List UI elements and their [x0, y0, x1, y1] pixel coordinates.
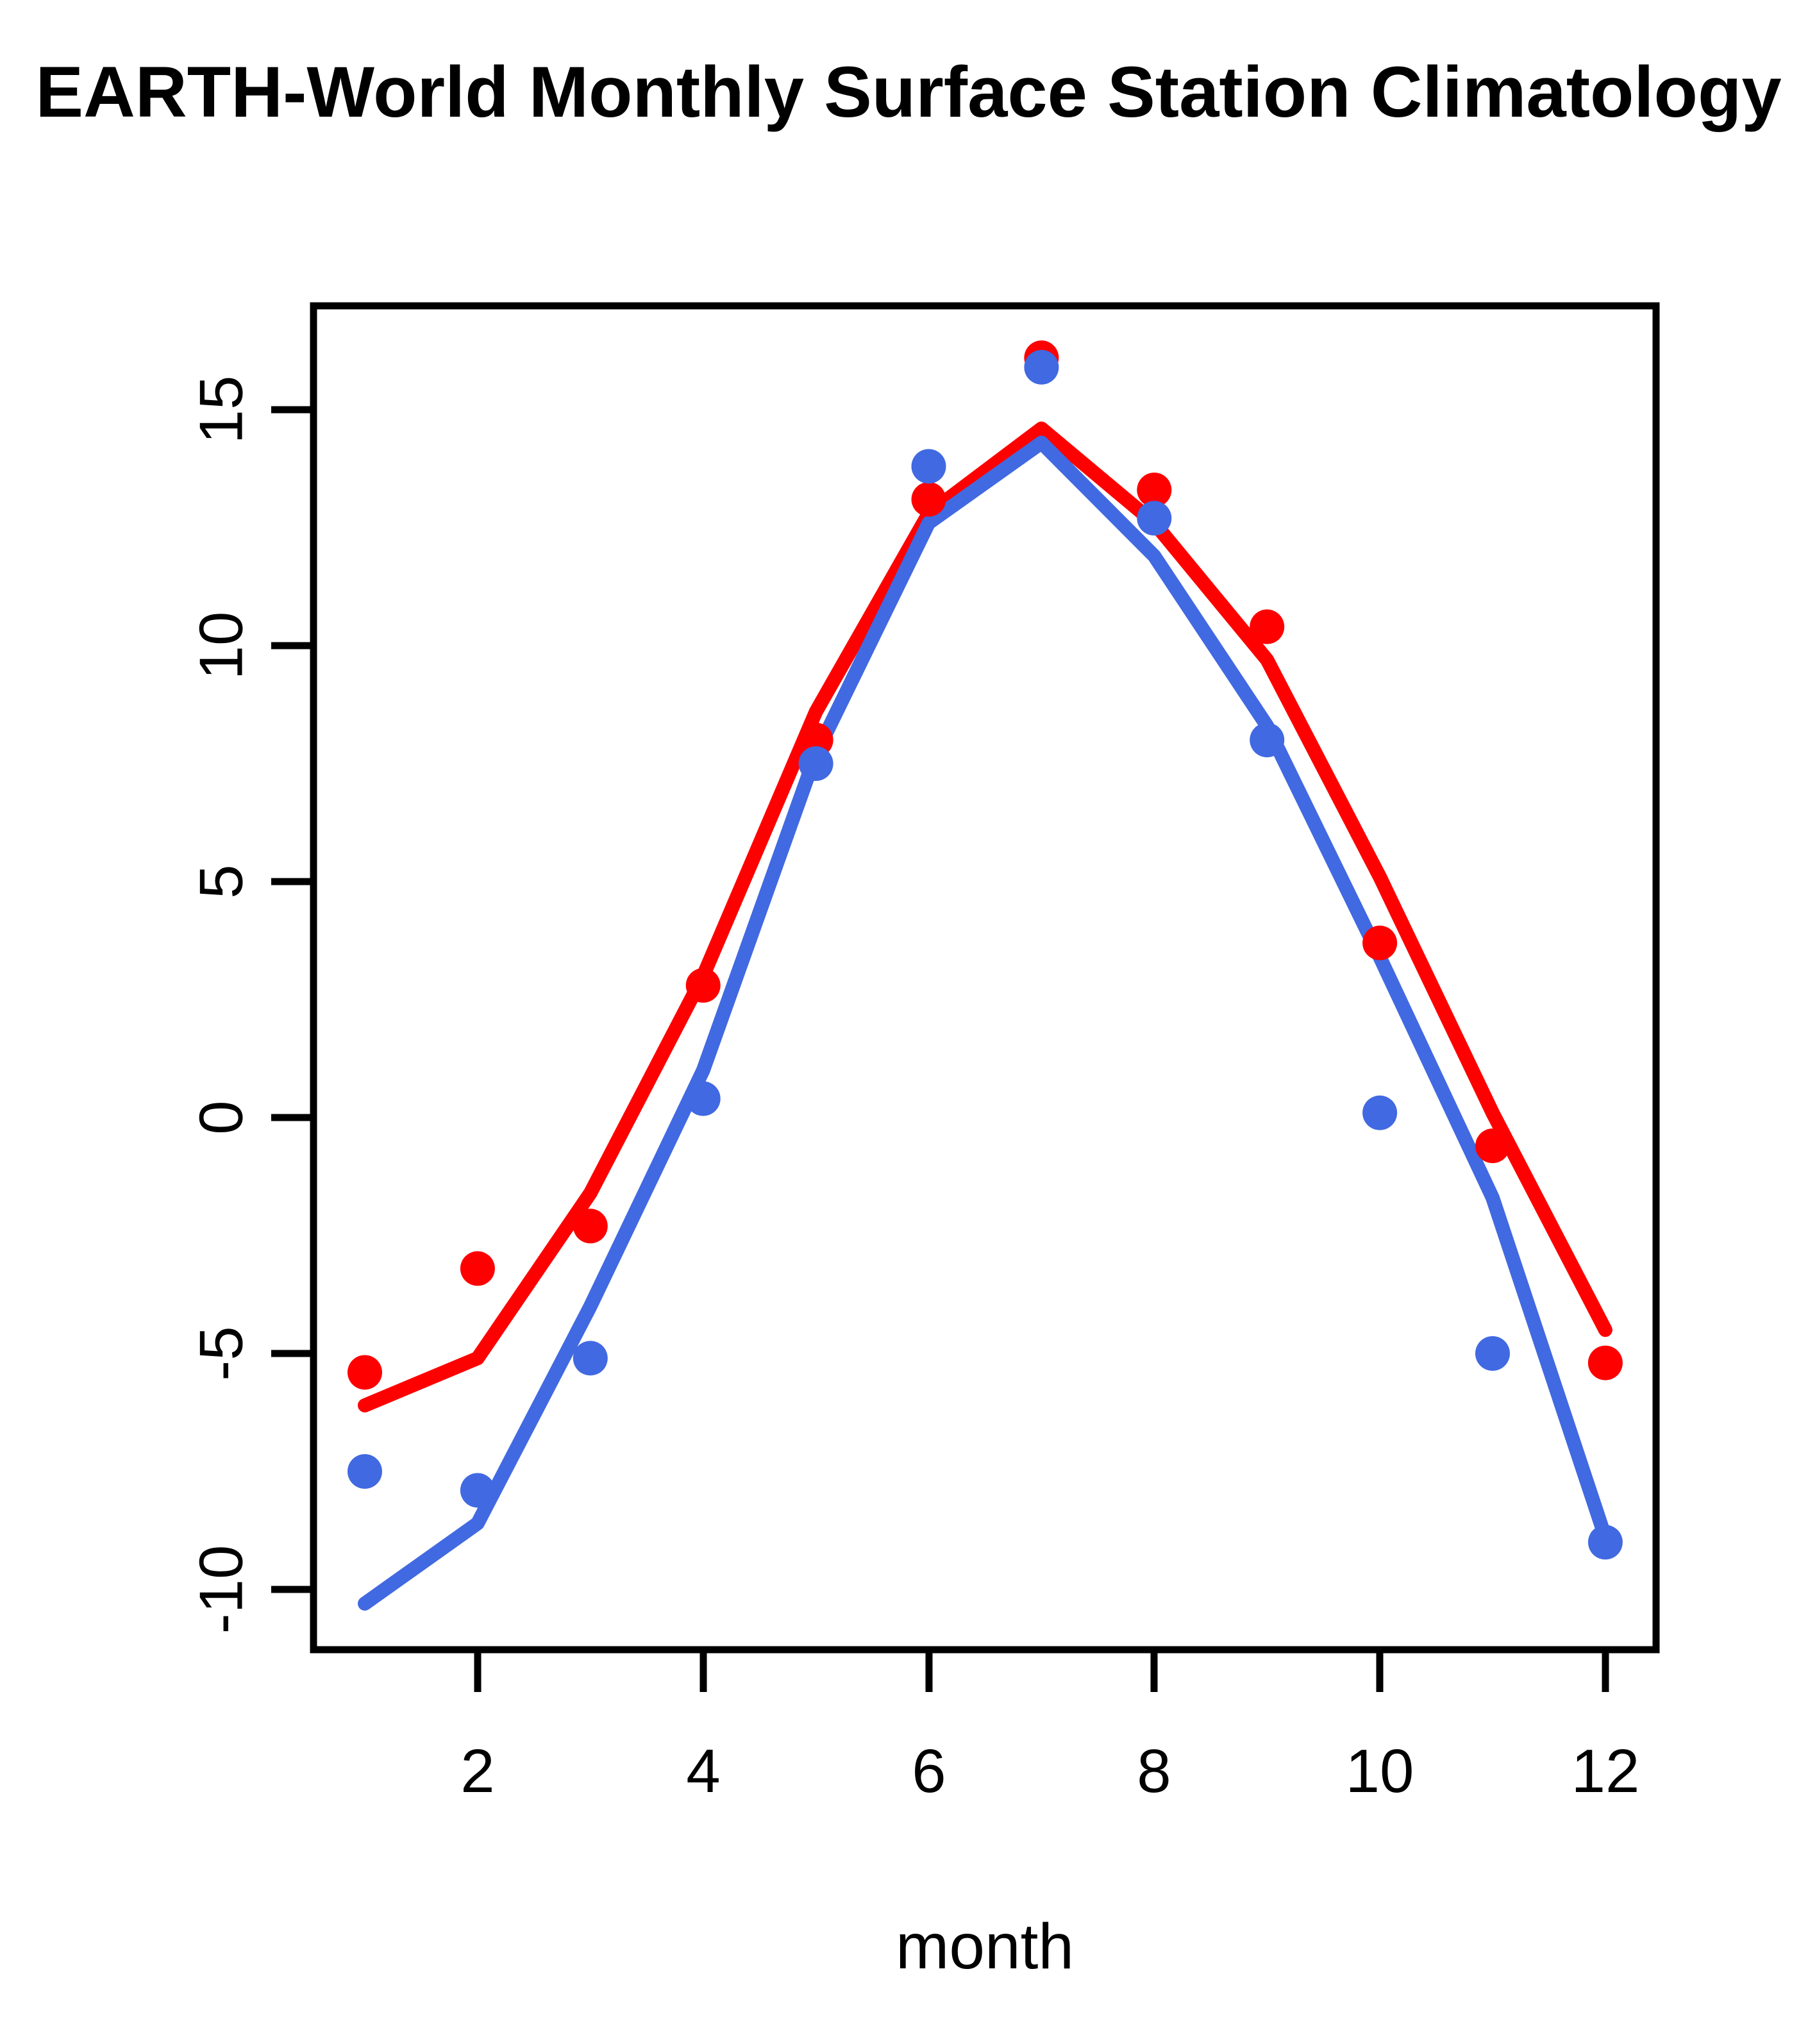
data-point — [1588, 1525, 1623, 1559]
data-point — [1137, 501, 1171, 535]
y-axis-tick-labels: 15 10 5 0 -5 -10 — [187, 376, 256, 1634]
y-tick-label-minus5: -5 — [187, 1326, 256, 1380]
data-point — [460, 1473, 495, 1507]
data-point — [347, 1355, 382, 1389]
data-point — [573, 1209, 608, 1243]
data-point — [1362, 926, 1397, 960]
x-tick-label-6: 6 — [912, 1737, 946, 1805]
x-tick-label-4: 4 — [686, 1737, 720, 1805]
data-point — [347, 1454, 382, 1489]
x-axis-tick-labels: 2 4 6 8 10 12 — [460, 1737, 1639, 1805]
data-point — [912, 482, 946, 517]
data-point — [1362, 1096, 1397, 1130]
x-axis-title: month — [896, 1911, 1074, 1982]
x-tick-label-10: 10 — [1346, 1737, 1414, 1805]
y-tick-label-0: 0 — [187, 1100, 256, 1134]
data-point — [460, 1252, 495, 1286]
data-point — [912, 449, 946, 483]
y-tick-label-10: 10 — [187, 612, 256, 680]
y-tick-label-minus10: -10 — [187, 1545, 256, 1634]
y-tick-label-5: 5 — [187, 864, 256, 898]
climatology-line-chart: 15 10 5 0 -5 -10 2 4 6 8 10 12 month — [0, 0, 1817, 2044]
x-axis-ticks — [478, 1650, 1605, 1692]
y-tick-label-15: 15 — [187, 376, 256, 444]
x-tick-label-12: 12 — [1571, 1737, 1640, 1805]
data-point — [686, 1082, 721, 1116]
x-tick-label-8: 8 — [1137, 1737, 1171, 1805]
data-point — [1588, 1346, 1623, 1380]
chart-page: EARTH-World Monthly Surface Station Clim… — [0, 0, 1817, 2044]
data-point — [1024, 350, 1059, 385]
data-point — [573, 1341, 608, 1375]
x-tick-label-2: 2 — [460, 1737, 494, 1805]
data-point — [1250, 610, 1284, 644]
data-point — [1475, 1336, 1510, 1371]
data-point — [1475, 1128, 1510, 1163]
data-point — [799, 746, 833, 781]
data-point — [686, 968, 721, 1003]
y-axis-ticks — [271, 410, 314, 1589]
data-point — [1250, 723, 1284, 757]
